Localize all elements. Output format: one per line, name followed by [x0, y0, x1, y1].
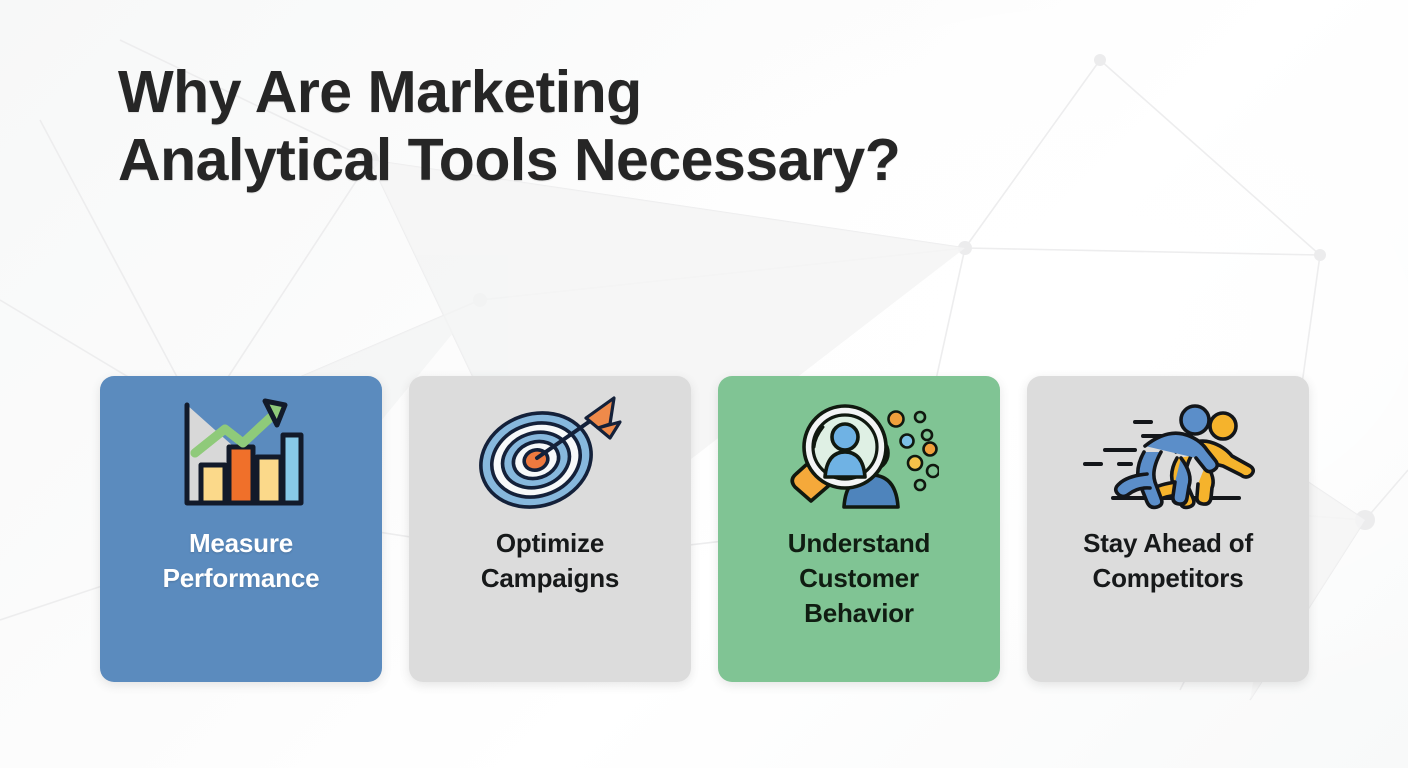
runners-race-icon	[1027, 376, 1309, 526]
card-label-optimize-campaigns: Optimize Campaigns	[467, 526, 633, 596]
card-understand-customer-behavior[interactable]: Understand Customer Behavior	[718, 376, 1000, 682]
card-measure-performance[interactable]: Measure Performance	[100, 376, 382, 682]
slide-canvas: Why Are Marketing Analytical Tools Neces…	[0, 0, 1408, 768]
card-label-measure-performance: Measure Performance	[149, 526, 334, 596]
magnifier-people-insights-icon	[718, 376, 1000, 526]
card-label-stay-ahead-of-competitors: Stay Ahead of Competitors	[1069, 526, 1267, 596]
page-title: Why Are Marketing Analytical Tools Neces…	[118, 58, 1018, 194]
card-label-understand-customer-behavior: Understand Customer Behavior	[774, 526, 944, 631]
card-stay-ahead-of-competitors[interactable]: Stay Ahead of Competitors	[1027, 376, 1309, 682]
bar-chart-growth-icon	[100, 376, 382, 526]
card-optimize-campaigns[interactable]: Optimize Campaigns	[409, 376, 691, 682]
feature-card-row: Measure Performance	[100, 376, 1318, 682]
target-dartboard-arrow-icon	[409, 376, 691, 526]
